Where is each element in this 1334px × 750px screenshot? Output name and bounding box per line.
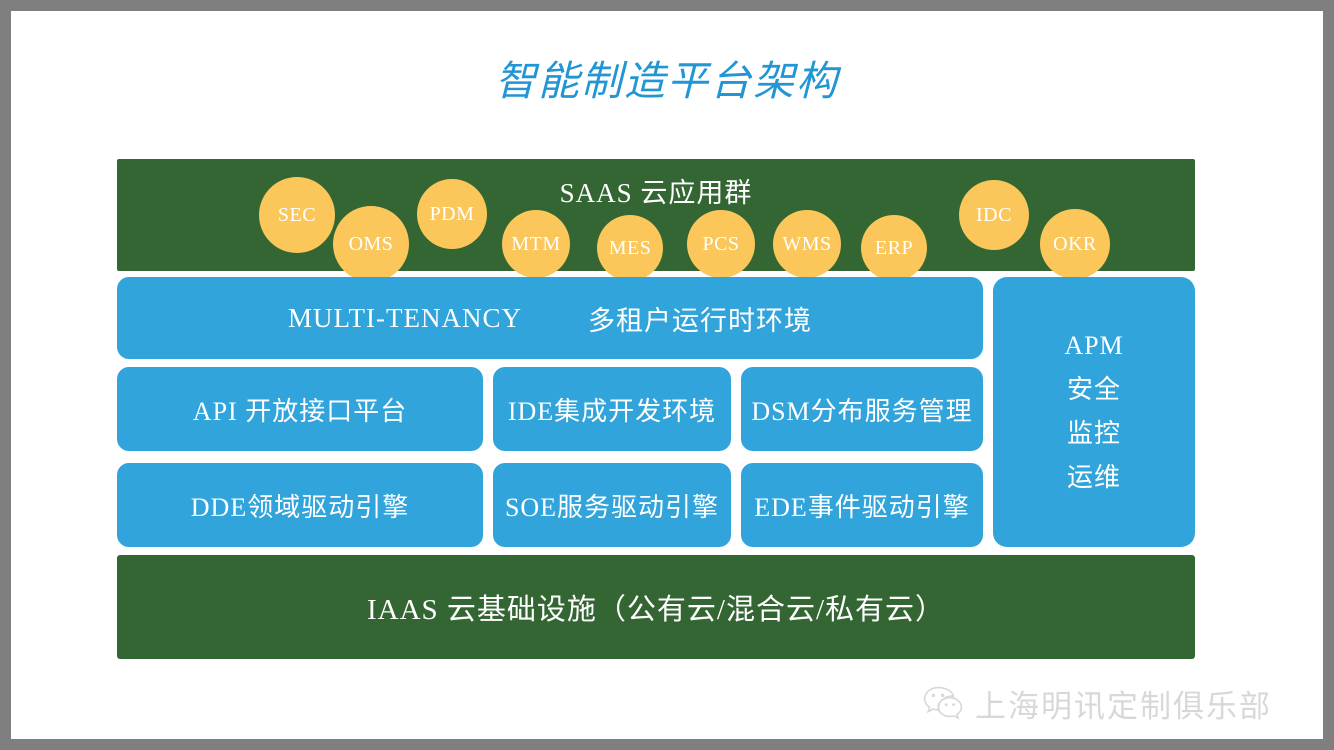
apm-panel[interactable]: APM 安全 监控 运维 (993, 277, 1195, 547)
saas-bubble-label: MES (609, 237, 652, 260)
saas-bubble-wms[interactable]: WMS (773, 210, 841, 278)
card-soe-service-engine[interactable]: SOE服务驱动引擎 (493, 463, 731, 547)
card-label: DSM分布服务管理 (751, 391, 972, 428)
saas-bubble-label: MTM (511, 233, 560, 256)
saas-bubble-label: PCS (702, 233, 739, 256)
footer-watermark: 上海明讯定制俱乐部 (923, 679, 1323, 727)
saas-bubble-label: PDM (430, 203, 475, 226)
apm-line-1: APM (1064, 333, 1123, 359)
card-ide-environment[interactable]: IDE集成开发环境 (493, 367, 731, 451)
card-label: IDE集成开发环境 (508, 391, 716, 428)
saas-bubble-pdm[interactable]: PDM (417, 179, 487, 249)
wechat-icon (923, 686, 963, 720)
saas-bubble-label: ERP (875, 237, 913, 260)
watermark-text: 上海明讯定制俱乐部 (975, 681, 1272, 726)
saas-bubble-idc[interactable]: IDC (959, 180, 1029, 250)
apm-line-2: 安全 (1067, 377, 1121, 403)
card-label: EDE事件驱动引擎 (754, 487, 970, 524)
iaas-layer-band: IAAS 云基础设施（公有云/混合云/私有云） (117, 555, 1195, 659)
multi-tenancy-label-cn: 多租户运行时环境 (588, 299, 812, 338)
iaas-layer-label: IAAS 云基础设施（公有云/混合云/私有云） (367, 586, 945, 628)
card-dsm-service-management[interactable]: DSM分布服务管理 (741, 367, 983, 451)
card-dde-domain-engine[interactable]: DDE领域驱动引擎 (117, 463, 483, 547)
page-title: 智能制造平台架构 (11, 47, 1323, 107)
saas-bubble-oms[interactable]: OMS (333, 206, 409, 282)
saas-bubble-mes[interactable]: MES (597, 215, 663, 281)
apm-line-4: 运维 (1067, 465, 1121, 491)
card-label: API 开放接口平台 (193, 391, 407, 428)
saas-bubble-label: IDC (976, 204, 1012, 227)
multi-tenancy-card[interactable]: MULTI-TENANCY 多租户运行时环境 (117, 277, 983, 359)
apm-line-3: 监控 (1067, 421, 1121, 447)
saas-bubble-label: OKR (1053, 233, 1097, 256)
saas-bubble-pcs[interactable]: PCS (687, 210, 755, 278)
slide-canvas: 智能制造平台架构 SAAS 云应用群 SECOMSPDMMTMMESPCSWMS… (11, 11, 1323, 739)
slide-frame: 智能制造平台架构 SAAS 云应用群 SECOMSPDMMTMMESPCSWMS… (0, 0, 1334, 750)
saas-bubble-label: WMS (782, 233, 831, 256)
saas-bubble-label: SEC (278, 204, 316, 227)
saas-bubble-label: OMS (349, 233, 394, 256)
saas-bubble-mtm[interactable]: MTM (502, 210, 570, 278)
multi-tenancy-label-en: MULTI-TENANCY (288, 303, 522, 334)
card-label: DDE领域驱动引擎 (191, 487, 409, 524)
saas-bubble-erp[interactable]: ERP (861, 215, 927, 281)
card-ede-event-engine[interactable]: EDE事件驱动引擎 (741, 463, 983, 547)
saas-layer-band: SAAS 云应用群 SECOMSPDMMTMMESPCSWMSERPIDCOKR (117, 159, 1195, 271)
card-label: SOE服务驱动引擎 (505, 487, 719, 524)
card-api-platform[interactable]: API 开放接口平台 (117, 367, 483, 451)
saas-bubble-okr[interactable]: OKR (1040, 209, 1110, 279)
saas-bubble-sec[interactable]: SEC (259, 177, 335, 253)
